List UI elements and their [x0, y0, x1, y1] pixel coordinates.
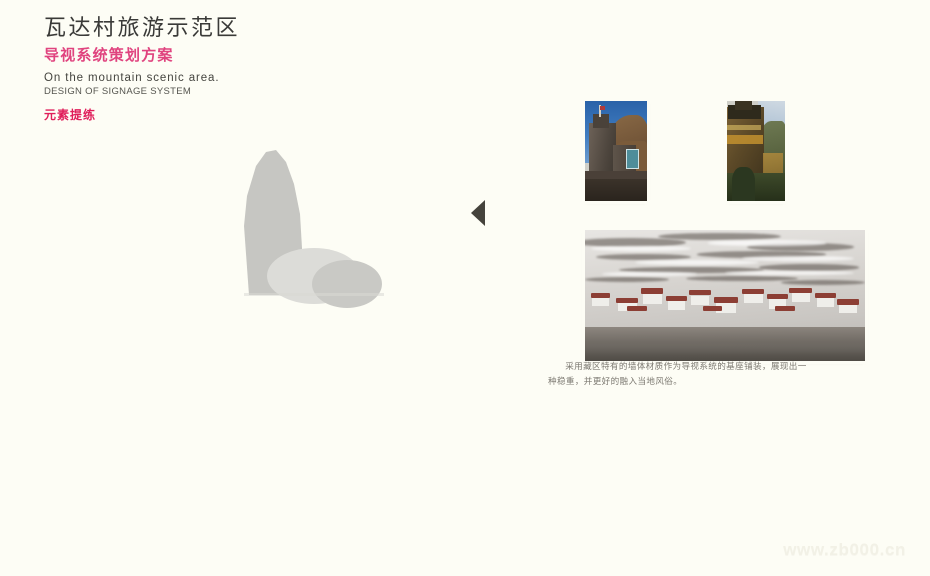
- ground-shadow: [244, 293, 384, 296]
- caption-line-2: 种稳重，并更好的融入当地风俗。: [548, 375, 843, 390]
- section-label: 元素提练: [44, 108, 404, 123]
- site-watermark: www.zb000.cn: [783, 540, 906, 560]
- village-house-roof: [627, 306, 647, 311]
- prayer-flag: [600, 106, 606, 110]
- signage-board: [626, 149, 638, 169]
- roof-crest: [735, 101, 752, 110]
- ochre-highlight-band: [727, 125, 761, 130]
- snow-band: [708, 240, 826, 245]
- photo-ochre-earthen-building: [727, 101, 785, 201]
- rock-streak: [759, 264, 860, 271]
- photo-caption: 采用藏区特有的墙体材质作为导视系统的基座铺装，展现出一 种稳重，并更好的融入当地…: [548, 360, 843, 390]
- presentation-slide: 瓦达村旅游示范区 导视系统策划方案 On the mountain scenic…: [0, 0, 930, 576]
- subtitle-english-primary: On the mountain scenic area.: [44, 71, 404, 85]
- foreground-ground: [585, 179, 647, 201]
- stone-cluster-illustration: [214, 138, 394, 310]
- photo-snowy-mountain-village: [585, 230, 865, 361]
- building-upper-storey: [593, 114, 609, 128]
- subtitle-english-secondary: DESIGN OF SIGNAGE SYSTEM: [44, 86, 404, 98]
- village-house-wall: [668, 301, 685, 310]
- village-house-wall: [643, 294, 661, 304]
- photo-tibetan-stone-building: [585, 101, 647, 201]
- village-house-roof: [775, 306, 795, 311]
- photo-a-scene: [585, 101, 647, 201]
- village-house-wall: [817, 298, 834, 307]
- caption-line-1: 采用藏区特有的墙体材质作为导视系统的基座铺装，展现出一: [548, 360, 843, 375]
- photo-b-scene: [727, 101, 785, 201]
- foreground-dark-field: [585, 327, 865, 361]
- village-house-wall: [839, 305, 857, 313]
- village-house-roof: [703, 306, 723, 311]
- village-house-wall: [592, 298, 609, 306]
- page-title: 瓦达村旅游示范区: [44, 16, 404, 42]
- photo-row-top: [545, 85, 825, 217]
- mid-boulder-shape: [312, 260, 382, 308]
- village-house-wall: [744, 294, 762, 303]
- left-arrow-icon: [471, 200, 487, 226]
- header-block: 瓦达村旅游示范区 导视系统策划方案 On the mountain scenic…: [44, 16, 404, 123]
- photo-panel: [545, 85, 825, 377]
- snow-band: [725, 271, 854, 276]
- village-house-wall: [792, 293, 810, 302]
- ochre-wall-band: [727, 135, 763, 144]
- rock-streak: [781, 280, 865, 285]
- village-house-wall: [691, 296, 709, 305]
- rock-streak: [686, 276, 798, 281]
- foreground-shrub: [732, 167, 755, 201]
- subtitle-chinese: 导视系统策划方案: [44, 46, 404, 65]
- photo-c-scene: [585, 230, 865, 361]
- snow-band: [591, 246, 692, 251]
